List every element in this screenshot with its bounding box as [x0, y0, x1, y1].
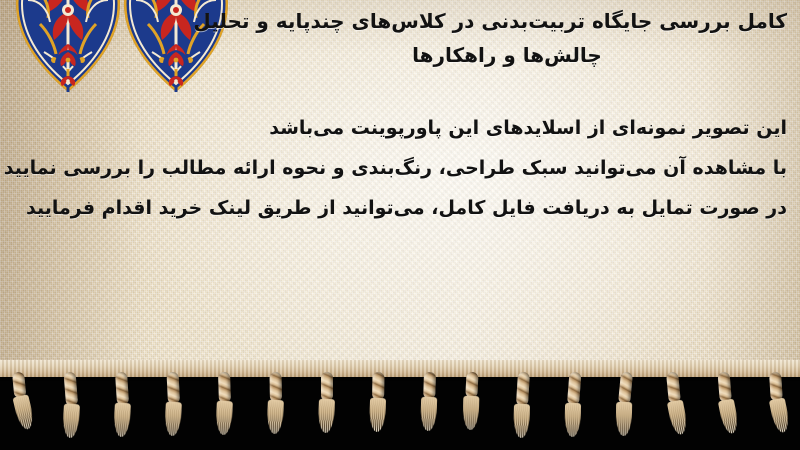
tassel-knot — [269, 372, 281, 402]
tassel-knot — [372, 372, 384, 400]
fringe-tassel — [10, 371, 32, 436]
tassel-knot — [218, 372, 231, 403]
tassel-knot — [516, 372, 530, 407]
tassel-brush — [616, 402, 633, 436]
body-line-2: با مشاهده آن می‌توانید سبک طراحی، رنگ‌بن… — [15, 148, 787, 188]
fringe-tassel — [267, 372, 284, 436]
tassel-brush — [369, 398, 386, 433]
tassel-knot — [64, 372, 79, 407]
tassel-brush — [420, 397, 437, 431]
fringe-tassel — [113, 372, 133, 437]
tassel-knot — [115, 372, 129, 406]
tassel-knot — [718, 372, 732, 403]
tassel-brush — [513, 404, 530, 438]
presentation-slide: کامل بررسی جایگاه تربیت‌بدنی در کلاس‌های… — [0, 0, 800, 450]
persian-pendant-icon — [53, 48, 83, 94]
slide-body: این تصویر نمونه‌ای از اسلایدهای این پاور… — [15, 108, 787, 228]
tassel-brush — [564, 403, 581, 437]
tassel-brush — [62, 404, 80, 439]
tassel-knot — [321, 372, 333, 401]
fringe-tassel — [216, 372, 234, 436]
tassel-knot — [666, 372, 681, 404]
tassel-knot — [423, 372, 436, 399]
tassel-knot — [567, 372, 582, 406]
fringe-tassel — [62, 371, 83, 436]
carpet-fringe — [0, 360, 800, 450]
fringe-tassel — [462, 372, 481, 437]
tassel-knot — [465, 372, 478, 399]
fringe-tassel — [319, 372, 335, 436]
fringe-tassel — [664, 371, 686, 436]
fringe-tassel — [613, 371, 635, 436]
fringe-tassel — [420, 372, 438, 436]
fringe-tassel — [767, 372, 787, 437]
tassel-brush — [769, 397, 791, 433]
fringe-tassel — [369, 372, 386, 436]
fringe-tassel — [165, 372, 184, 437]
tassel-brush — [164, 402, 182, 437]
slide-title: کامل بررسی جایگاه تربیت‌بدنی در کلاس‌های… — [227, 4, 787, 72]
tassel-brush — [12, 394, 35, 431]
fringe-tassel — [512, 372, 532, 437]
fringe-tassel — [563, 371, 584, 436]
tassel-brush — [267, 400, 284, 435]
tassel-brush — [215, 401, 233, 436]
tassel-brush — [113, 403, 131, 438]
tassel-brush — [462, 396, 479, 430]
body-line-3: در صورت تمایل به دریافت فایل کامل، می‌تو… — [15, 188, 787, 228]
tassel-brush — [667, 400, 689, 436]
tassel-brush — [718, 398, 740, 434]
tassel-brush — [318, 399, 335, 434]
tassel-knot — [618, 372, 633, 405]
persian-pendant-icon — [161, 48, 191, 94]
tassel-knot — [166, 372, 179, 405]
title-line-1: کامل بررسی جایگاه تربیت‌بدنی در کلاس‌های… — [227, 4, 787, 38]
body-line-1: این تصویر نمونه‌ای از اسلایدهای این پاور… — [15, 108, 787, 148]
tassel-knot — [769, 372, 783, 402]
title-line-2: چالش‌ها و راهکارها — [227, 38, 787, 72]
fringe-tassel — [716, 371, 737, 436]
